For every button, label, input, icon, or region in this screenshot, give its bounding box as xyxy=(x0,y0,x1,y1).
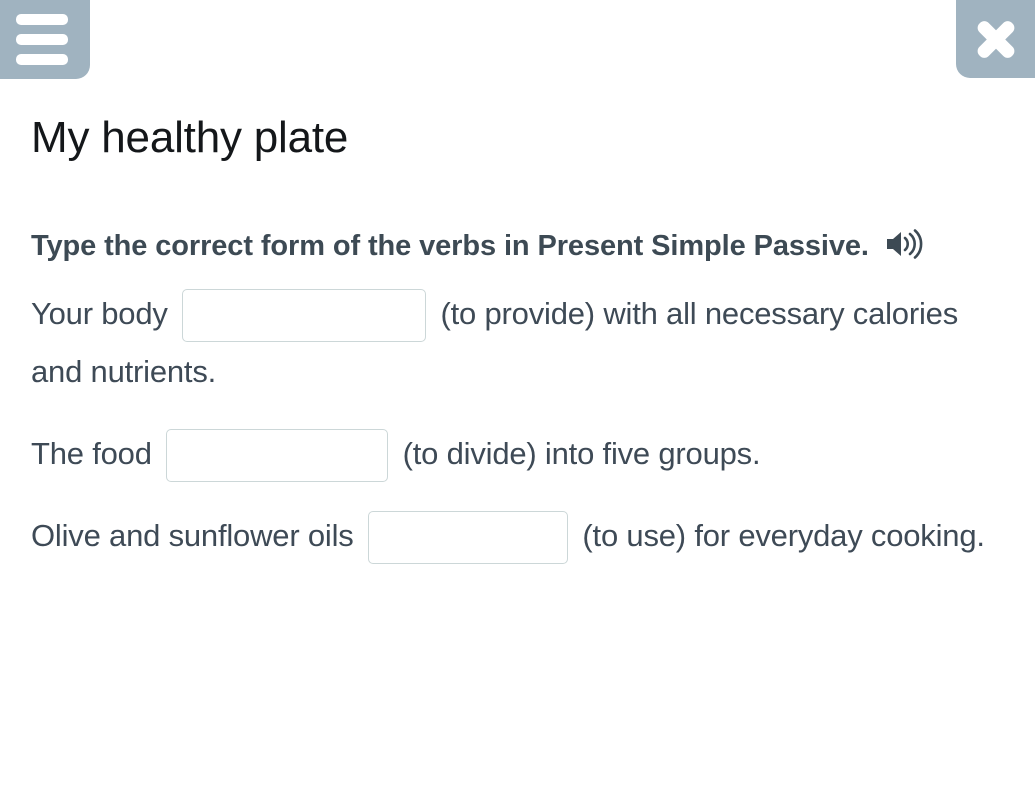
hamburger-menu-icon-line-1 xyxy=(16,14,68,25)
exercise-sentence-2: The food (to divide) into five groups. xyxy=(31,425,986,483)
exercise-instruction-text: Type the correct form of the verbs in Pr… xyxy=(31,230,869,262)
hamburger-menu-button[interactable] xyxy=(0,0,90,79)
exercise-sentence-3: Olive and sunflower oils (to use) for ev… xyxy=(31,507,986,565)
hamburger-menu-icon-line-3 xyxy=(16,54,68,65)
sentence-1-suffix: (to provide) with all necessary calories… xyxy=(31,296,958,389)
hamburger-menu-icon-line-2 xyxy=(16,34,68,45)
sentence-1-prefix: Your body xyxy=(31,296,168,331)
speaker-icon[interactable] xyxy=(885,222,923,279)
close-icon xyxy=(974,17,1018,61)
exercise-container: Type the correct form of the verbs in Pr… xyxy=(31,218,986,565)
answer-input-1[interactable] xyxy=(182,289,426,342)
sentence-2-prefix: The food xyxy=(31,436,152,471)
answer-input-2[interactable] xyxy=(166,429,388,482)
page-title: My healthy plate xyxy=(31,108,348,168)
exercise-instruction: Type the correct form of the verbs in Pr… xyxy=(31,218,986,279)
sentence-2-suffix: (to divide) into five groups. xyxy=(403,436,761,471)
answer-input-3[interactable] xyxy=(368,511,568,564)
sentence-3-prefix: Olive and sunflower oils xyxy=(31,518,354,553)
sentence-3-suffix: (to use) for everyday cooking. xyxy=(582,518,984,553)
close-button[interactable] xyxy=(956,0,1035,78)
exercise-sentence-1: Your body (to provide) with all necessar… xyxy=(31,285,986,401)
